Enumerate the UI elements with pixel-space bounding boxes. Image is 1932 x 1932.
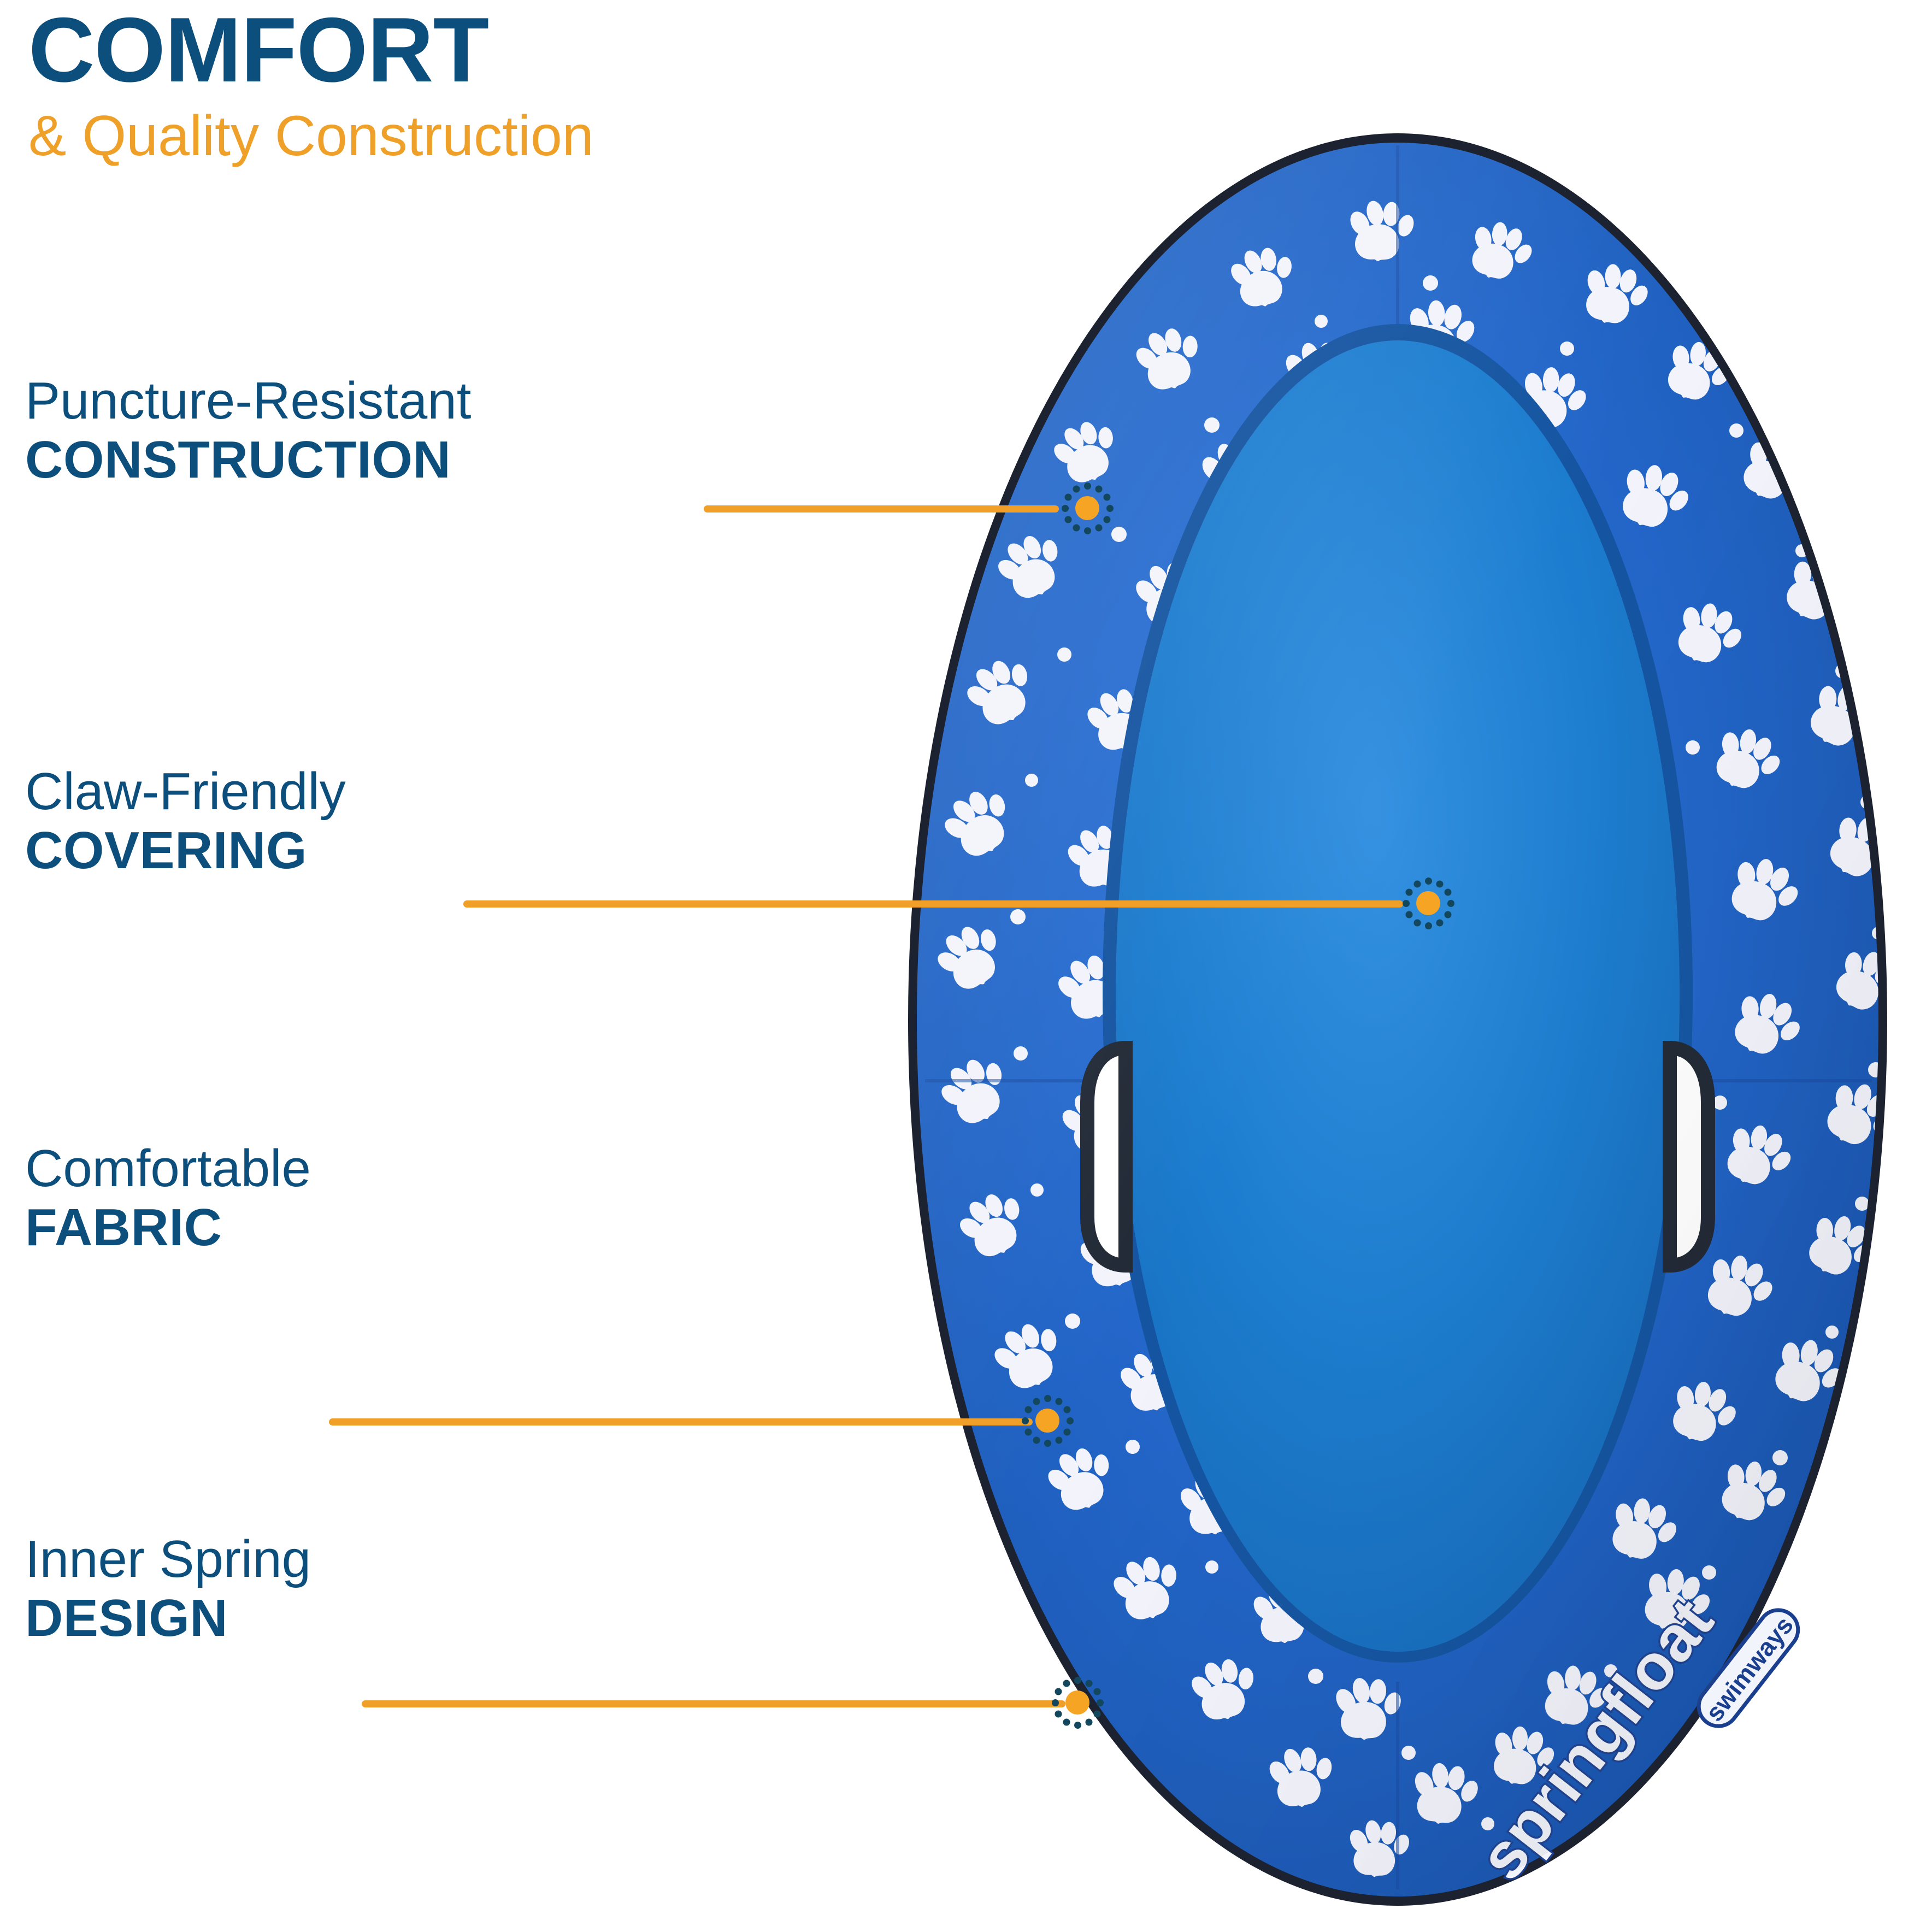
marker-ring-dot-icon <box>1055 1710 1062 1717</box>
marker-ring-dot-icon <box>1444 911 1451 918</box>
marker-ring-dot-icon <box>1405 911 1412 918</box>
page-title: COMFORT & Quality Construction <box>28 3 1012 170</box>
leader-line-covering <box>463 900 1403 908</box>
marker-ring-dot-icon <box>1093 1688 1100 1695</box>
marker-ring-dot-icon <box>1074 1677 1081 1684</box>
marker-ring-dot-icon <box>1106 505 1114 512</box>
callout-dot-fabric <box>1015 1388 1080 1453</box>
marker-ring-dot-icon <box>1052 1699 1059 1706</box>
marker-ring-dot-icon <box>1425 877 1432 885</box>
marker-core-icon <box>1035 1409 1059 1433</box>
marker-ring-dot-icon <box>1097 1699 1104 1706</box>
marker-ring-dot-icon <box>1084 527 1091 534</box>
marker-ring-dot-icon <box>1055 1398 1062 1405</box>
handle-left <box>1087 1048 1126 1265</box>
marker-ring-dot-icon <box>1022 1417 1029 1424</box>
marker-ring-dot-icon <box>1425 922 1432 929</box>
callout-line-2: CONSTRUCTION <box>25 431 471 490</box>
marker-ring-dot-icon <box>1093 1710 1100 1717</box>
marker-ring-dot-icon <box>1033 1398 1040 1405</box>
callout-dot-design <box>1045 1670 1110 1735</box>
marker-ring-dot-icon <box>1447 900 1454 907</box>
callout-label-fabric: Comfortable FABRIC <box>25 1139 311 1257</box>
callout-line-2: COVERING <box>25 821 346 880</box>
marker-ring-dot-icon <box>1024 1428 1032 1435</box>
product-image-dog-pool-float: springfloat swimways <box>884 119 1911 1920</box>
marker-ring-dot-icon <box>1063 1428 1070 1435</box>
marker-ring-dot-icon <box>1095 524 1102 531</box>
callout-dot-construction <box>1055 475 1120 541</box>
handle-right <box>1670 1048 1708 1265</box>
marker-ring-dot-icon <box>1073 485 1080 492</box>
float-illustration: springfloat swimways <box>884 119 1911 1920</box>
marker-ring-dot-icon <box>1044 1395 1051 1402</box>
marker-ring-dot-icon <box>1033 1436 1040 1444</box>
marker-ring-dot-icon <box>1095 485 1102 492</box>
callout-label-design: Inner Spring DESIGN <box>25 1530 311 1647</box>
callout-line-2: DESIGN <box>25 1589 311 1648</box>
inner-seat <box>1116 340 1680 1652</box>
marker-core-icon <box>1075 496 1099 520</box>
marker-ring-dot-icon <box>1063 1680 1070 1687</box>
marker-ring-dot-icon <box>1067 1417 1074 1424</box>
marker-ring-dot-icon <box>1444 888 1451 896</box>
marker-ring-dot-icon <box>1055 1436 1062 1444</box>
marker-ring-dot-icon <box>1044 1440 1051 1447</box>
marker-ring-dot-icon <box>1403 900 1410 907</box>
marker-ring-dot-icon <box>1074 1722 1081 1729</box>
marker-ring-dot-icon <box>1062 505 1069 512</box>
infographic-canvas: COMFORT & Quality Construction <box>0 0 1932 1932</box>
callout-line-1: Comfortable <box>25 1139 311 1198</box>
marker-ring-dot-icon <box>1405 888 1412 896</box>
marker-core-icon <box>1065 1690 1089 1715</box>
leader-line-fabric <box>329 1418 1033 1426</box>
callout-line-1: Claw-Friendly <box>25 762 346 821</box>
marker-ring-dot-icon <box>1084 482 1091 490</box>
callout-line-1: Puncture-Resistant <box>25 372 471 431</box>
callout-line-2: FABRIC <box>25 1198 311 1257</box>
leader-line-design <box>362 1700 1065 1707</box>
marker-ring-dot-icon <box>1436 880 1443 887</box>
marker-ring-dot-icon <box>1436 919 1443 926</box>
headline-primary: COMFORT <box>28 3 1012 97</box>
marker-ring-dot-icon <box>1413 919 1421 926</box>
callout-dot-covering <box>1395 870 1461 936</box>
marker-core-icon <box>1416 891 1440 915</box>
marker-ring-dot-icon <box>1085 1718 1092 1725</box>
marker-ring-dot-icon <box>1103 493 1110 500</box>
marker-ring-dot-icon <box>1064 493 1071 500</box>
marker-ring-dot-icon <box>1055 1688 1062 1695</box>
marker-ring-dot-icon <box>1103 516 1110 523</box>
marker-ring-dot-icon <box>1064 516 1071 523</box>
leader-line-construction <box>704 505 1059 513</box>
callout-label-construction: Puncture-Resistant CONSTRUCTION <box>25 372 471 489</box>
callout-label-covering: Claw-Friendly COVERING <box>25 762 346 880</box>
marker-ring-dot-icon <box>1024 1406 1032 1413</box>
marker-ring-dot-icon <box>1063 1718 1070 1725</box>
marker-ring-dot-icon <box>1073 524 1080 531</box>
callout-line-1: Inner Spring <box>25 1530 311 1589</box>
marker-ring-dot-icon <box>1085 1680 1092 1687</box>
marker-ring-dot-icon <box>1413 880 1421 887</box>
headline-secondary: & Quality Construction <box>28 102 1012 170</box>
marker-ring-dot-icon <box>1063 1406 1070 1413</box>
